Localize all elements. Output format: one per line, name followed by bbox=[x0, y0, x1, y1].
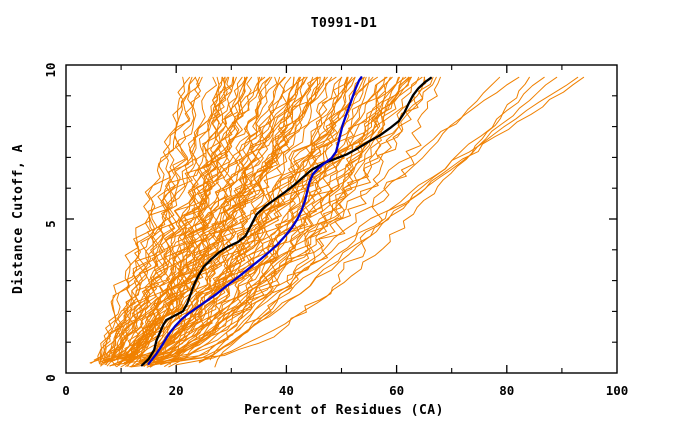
x-tick-label: 100 bbox=[606, 383, 629, 398]
plot-container: T0991-D1 0204060801000510 Percent of Res… bbox=[0, 0, 680, 440]
x-tick-label: 20 bbox=[169, 383, 184, 398]
y-tick-label: 10 bbox=[43, 62, 58, 77]
y-tick-label: 5 bbox=[43, 220, 58, 228]
x-tick-label: 0 bbox=[62, 383, 70, 398]
x-axis-label: Percent of Residues (CA) bbox=[244, 403, 444, 418]
y-tick-label: 0 bbox=[43, 374, 58, 382]
x-tick-label: 60 bbox=[389, 383, 404, 398]
x-tick-label: 80 bbox=[499, 383, 514, 398]
distance-cutoff-plot: T0991-D1 0204060801000510 Percent of Res… bbox=[0, 0, 680, 440]
y-axis-label: Distance Cutoff, A bbox=[11, 144, 26, 294]
x-tick-label: 40 bbox=[279, 383, 294, 398]
page-title: T0991-D1 bbox=[311, 16, 378, 31]
